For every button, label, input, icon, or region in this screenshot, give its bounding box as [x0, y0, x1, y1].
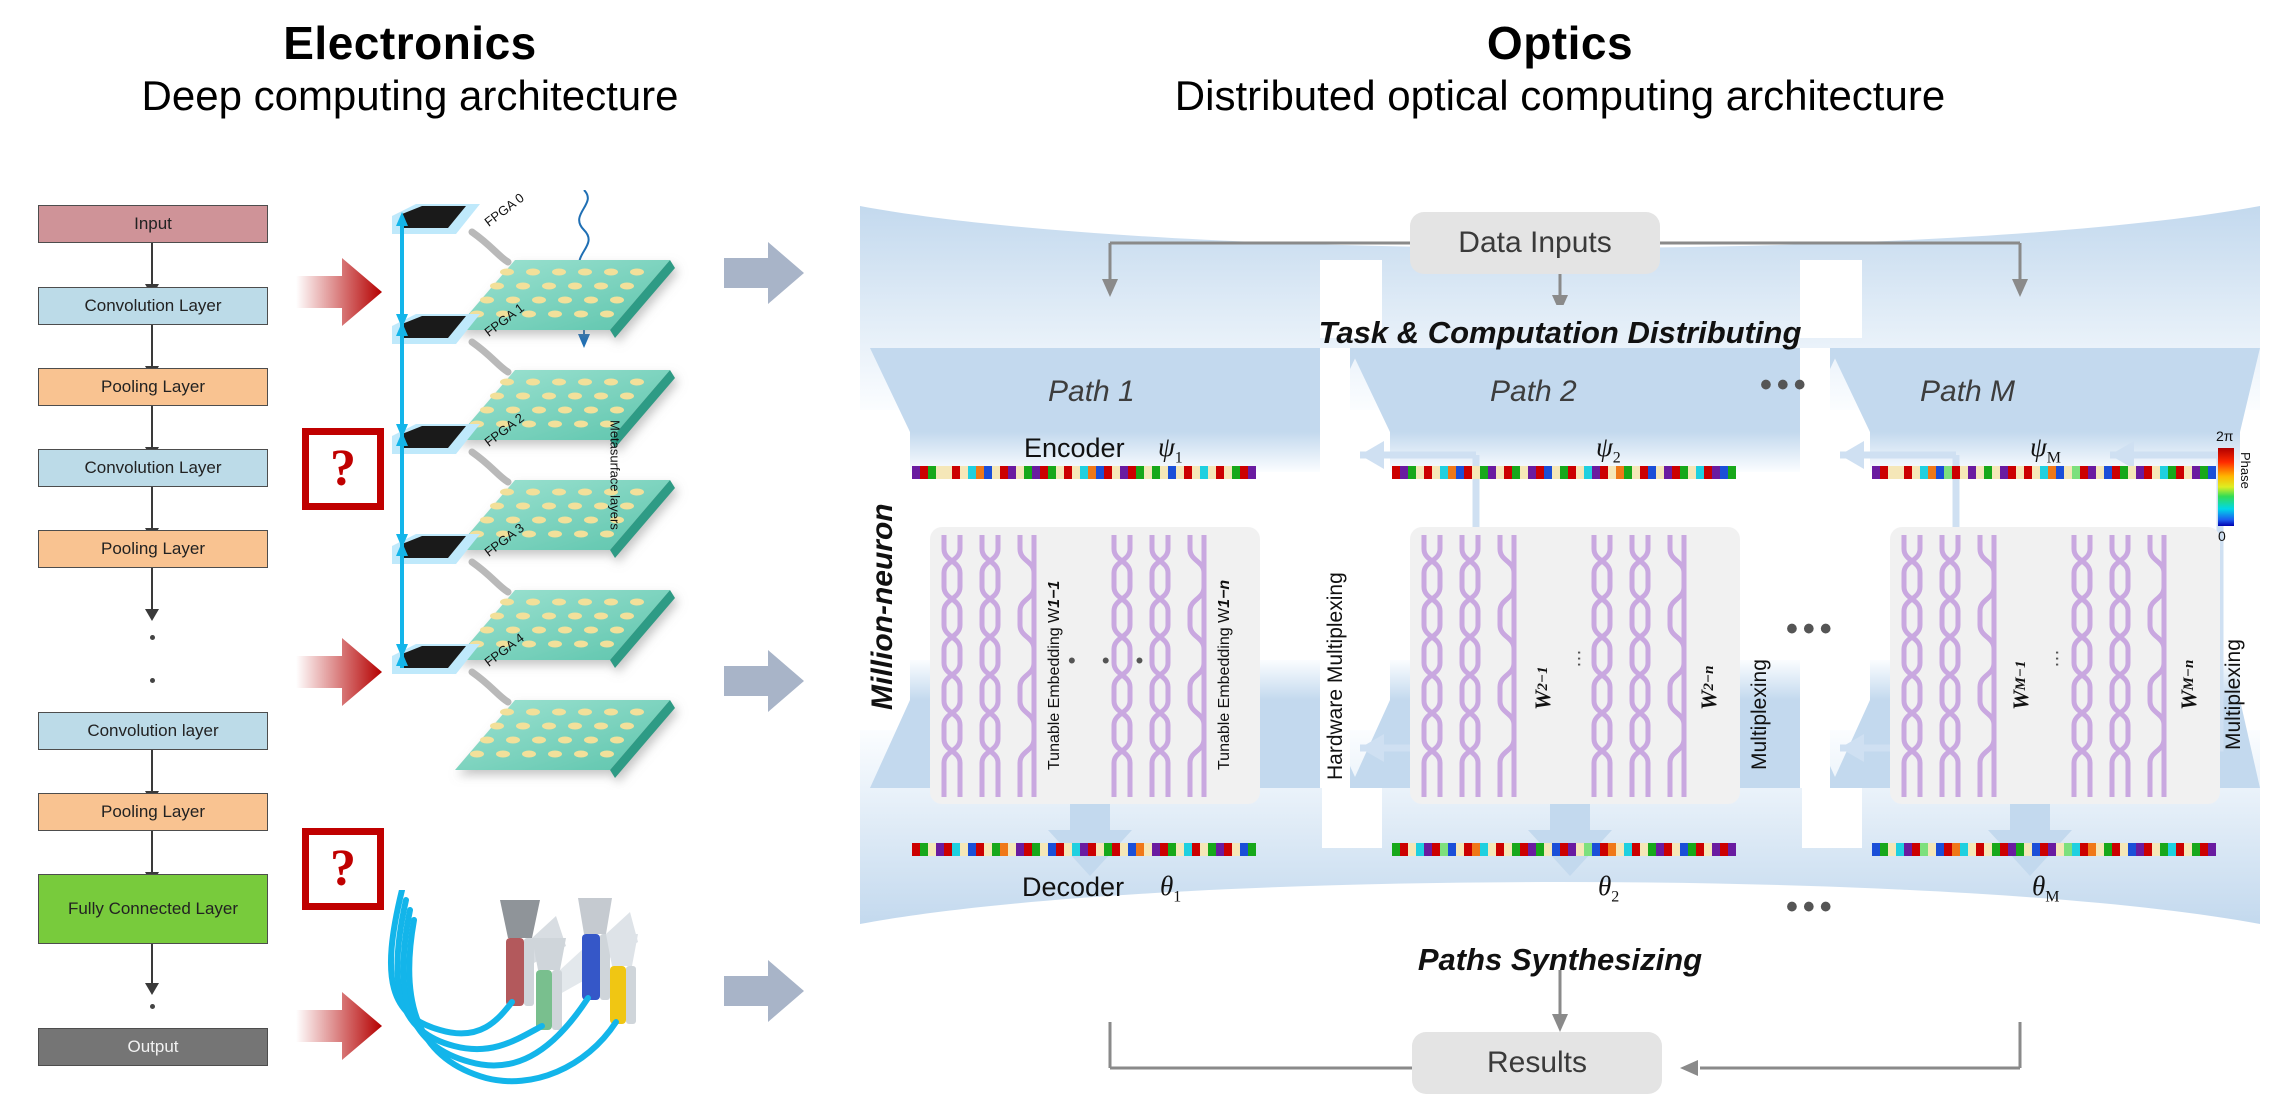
grey-arrow-icon	[724, 958, 804, 1024]
psi-subscript: 2	[1613, 449, 1621, 466]
page-subtitle-optics: Distributed optical computing architectu…	[860, 72, 2260, 120]
w-text: Tunable Embedding W	[1046, 608, 1063, 770]
w-text: W	[1530, 690, 1555, 710]
grey-arrow-icon	[724, 240, 804, 306]
column-ellipsis-bottom: •••	[1786, 888, 1837, 927]
w-subscript: 1−1	[1046, 581, 1063, 608]
flow-box-input[interactable]: Input	[38, 205, 268, 243]
flow-box-convolution-2[interactable]: Convolution Layer	[38, 449, 268, 487]
question-mark-box[interactable]: ?	[302, 428, 384, 510]
theta-label-path2: θ2	[1598, 871, 1619, 906]
multiplexing-label-middle: Multiplexing	[1748, 540, 1772, 770]
phase-colorbar	[2218, 448, 2234, 526]
flow-arrow	[151, 831, 153, 873]
theta-subscript: M	[2045, 888, 2059, 905]
path-ellipsis-icon: •••	[1760, 366, 1811, 405]
page-title-electronics: Electronics	[0, 16, 820, 70]
flow-arrow	[151, 325, 153, 367]
theta-symbol: θ	[2032, 871, 2045, 901]
question-mark-glyph: ?	[330, 843, 356, 895]
column-ellipsis-top: •••	[1786, 610, 1837, 649]
mesh-ellipsis-pathM: ⋯	[2047, 650, 2068, 668]
theta-subscript: 1	[1173, 888, 1181, 905]
flow-vertical-dot	[150, 1004, 155, 1009]
colorbar-min-label: 0	[2218, 528, 2226, 544]
flow-vertical-dot	[150, 635, 155, 640]
flow-box-output[interactable]: Output	[38, 1028, 268, 1066]
mzi-mesh-path2-first	[1418, 535, 1518, 797]
flow-box-pooling-3[interactable]: Pooling Layer	[38, 793, 268, 831]
theta-label-path1: θ1	[1160, 871, 1181, 906]
question-mark-box[interactable]: ?	[302, 828, 384, 910]
task-distributing-label: Task & Computation Distributing	[1010, 315, 2110, 351]
mesh-ellipsis-path2: ⋯	[1569, 650, 1590, 668]
path-label-M: Path M	[1920, 375, 2015, 409]
mzi-mesh-pathM-first	[1898, 535, 1998, 797]
flow-box-pooling-1[interactable]: Pooling Layer	[38, 368, 268, 406]
colorbar-max-label: 2π	[2216, 428, 2233, 444]
psi-label-pathM: ψM	[2030, 432, 2061, 467]
phase-stripe-decoder-M	[1872, 843, 2220, 856]
metasurface-layers-label: Metasurface layers	[608, 420, 622, 540]
w-subscript: M−n	[2181, 660, 2197, 691]
w-label-M-1: WM−1	[2008, 610, 2034, 710]
mzi-mesh-path2-last	[1588, 535, 1688, 797]
red-arrow-icon	[296, 636, 382, 708]
red-arrow-icon	[296, 256, 382, 328]
decoder-label-path1: Decoder	[1022, 872, 1124, 903]
w-subscript: 1−n	[1216, 580, 1233, 608]
results-box[interactable]: Results	[1412, 1032, 1662, 1094]
flow-arrow	[151, 243, 153, 285]
flow-box-fully-connected[interactable]: Fully Connected Layer	[38, 874, 268, 944]
receivers-diagram	[380, 890, 640, 1110]
phase-stripe-encoder-2	[1392, 466, 1740, 479]
path-label-2: Path 2	[1490, 375, 1577, 409]
mzi-mesh-pathM-last	[2068, 535, 2168, 797]
encoder-label-path1: Encoder	[1024, 433, 1125, 464]
w-text: W	[2008, 690, 2033, 710]
data-inputs-box[interactable]: Data Inputs	[1410, 212, 1660, 274]
tunable-embedding-label-1-1: Tunable Embedding W1−1	[1046, 560, 1064, 770]
phase-stripe-encoder-M	[1872, 466, 2220, 479]
w-subscript: 2−1	[1535, 666, 1551, 690]
flow-arrow	[151, 944, 153, 984]
psi-label-path1: ψ1	[1158, 432, 1183, 467]
page-title-optics: Optics	[860, 16, 2260, 70]
phase-stripe-encoder-1	[912, 466, 1260, 479]
multiplexing-label-right: Multiplexing	[2222, 560, 2246, 750]
w-subscript: 2−n	[1701, 666, 1717, 691]
w-label-M-n: WM−n	[2176, 610, 2202, 710]
question-mark-glyph: ?	[330, 443, 356, 495]
flow-arrow	[151, 568, 153, 610]
flow-box-convolution-3[interactable]: Convolution layer	[38, 712, 268, 750]
mesh-ellipsis-path1: • • •	[1068, 648, 1153, 674]
theta-subscript: 2	[1611, 888, 1619, 905]
w-subscript: M−1	[2013, 661, 2029, 691]
phase-stripe-decoder-1	[912, 843, 1260, 856]
phase-stripe-decoder-2	[1392, 843, 1740, 856]
psi-symbol: ψ	[1596, 432, 1613, 462]
page-subtitle-electronics: Deep computing architecture	[0, 72, 820, 120]
w-label-2-1: W2−1	[1530, 610, 1556, 710]
flow-arrow	[151, 487, 153, 529]
mzi-mesh-path1-first	[938, 535, 1038, 797]
million-neuron-label: Million-neuron	[866, 470, 900, 710]
grey-arrow-icon	[724, 648, 804, 714]
flow-arrow	[151, 750, 153, 792]
w-text: W	[2176, 690, 2201, 710]
psi-symbol: ψ	[1158, 432, 1175, 462]
flow-vertical-dot	[150, 678, 155, 683]
flow-box-convolution-1[interactable]: Convolution Layer	[38, 287, 268, 325]
flow-box-pooling-2[interactable]: Pooling Layer	[38, 530, 268, 568]
w-text: Tunable Embedding W	[1216, 608, 1233, 770]
optical-stack-diagram	[380, 190, 700, 790]
path-label-1: Path 1	[1048, 375, 1135, 409]
flow-arrow	[151, 406, 153, 448]
psi-label-path2: ψ2	[1596, 432, 1621, 467]
theta-symbol: θ	[1598, 871, 1611, 901]
red-arrow-icon	[296, 990, 382, 1062]
psi-subscript: 1	[1175, 449, 1183, 466]
theta-symbol: θ	[1160, 871, 1173, 901]
psi-symbol: ψ	[2030, 432, 2047, 462]
w-label-2-n: W2−n	[1696, 610, 1722, 710]
theta-label-pathM: θM	[2032, 871, 2060, 906]
hardware-multiplexing-label: Hardware Multiplexing	[1324, 520, 1348, 780]
w-text: W	[1696, 690, 1721, 710]
colorbar-axis-label: Phase	[2238, 452, 2253, 522]
psi-subscript: M	[2047, 449, 2061, 466]
tunable-embedding-label-1-n: Tunable Embedding W1−n	[1216, 560, 1234, 770]
